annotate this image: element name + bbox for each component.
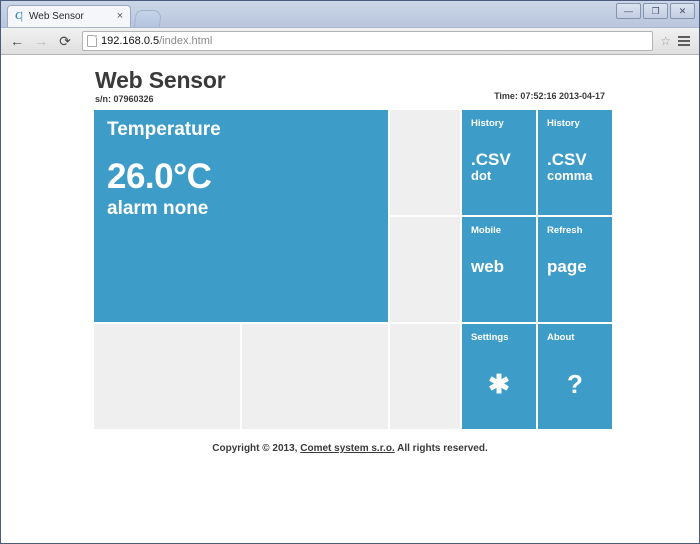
tab-title: Web Sensor	[29, 11, 110, 22]
serial-number: s/n: 07960326	[95, 95, 226, 104]
device-time: Time: 07:52:16 2013-04-17	[494, 91, 605, 104]
url-host: 192.168.0.5	[101, 35, 159, 47]
history-csv-comma-button[interactable]: History .CSV comma	[538, 110, 612, 215]
tile-caption: History	[547, 119, 603, 129]
tile-primary-label: web	[471, 258, 527, 276]
window-controls: — ❐ ✕	[616, 3, 695, 19]
comet-system-link[interactable]: Comet system s.r.o.	[300, 443, 394, 454]
temperature-value: 26.0°C	[107, 159, 375, 196]
asterisk-icon: ✱	[471, 371, 527, 397]
copyright-prefix: Copyright © 2013,	[212, 443, 300, 454]
empty-tile-r3c2	[242, 324, 388, 429]
tile-secondary-label: comma	[547, 169, 603, 183]
empty-tile-r1c3	[390, 110, 460, 215]
tile-secondary-label: dot	[471, 169, 527, 183]
url-text: 192.168.0.5/index.html	[101, 35, 212, 47]
temperature-panel: Temperature 26.0°C alarm none	[94, 110, 388, 322]
tile-primary-label: .CSV	[547, 151, 603, 169]
brand-block: Web Sensor s/n: 07960326	[95, 69, 226, 104]
tile-caption: Mobile	[471, 226, 527, 236]
back-icon[interactable]: ←	[7, 31, 27, 51]
browser-window: C| Web Sensor × — ❐ ✕ ← → ⟳ 192.168.0.5/…	[0, 0, 700, 544]
browser-tab-web-sensor[interactable]: C| Web Sensor ×	[7, 5, 131, 27]
browser-toolbar: ← → ⟳ 192.168.0.5/index.html ☆	[1, 27, 699, 55]
settings-button[interactable]: Settings ✱	[462, 324, 536, 429]
tab-strip: C| Web Sensor × — ❐ ✕	[1, 1, 699, 27]
empty-tile-r3c1	[94, 324, 240, 429]
tile-grid: Temperature 26.0°C alarm none History .C…	[94, 110, 606, 429]
bookmark-star-icon[interactable]: ☆	[660, 35, 671, 47]
page-document-icon	[87, 35, 97, 47]
tile-caption: Settings	[471, 333, 527, 343]
close-tab-icon[interactable]: ×	[114, 11, 126, 22]
mobile-web-button[interactable]: Mobile web	[462, 217, 536, 322]
comet-logo-icon: C|	[12, 10, 25, 23]
page-viewport: Web Sensor s/n: 07960326 Time: 07:52:16 …	[1, 55, 699, 543]
page-content: Web Sensor s/n: 07960326 Time: 07:52:16 …	[94, 69, 606, 454]
new-tab-button[interactable]	[134, 10, 162, 27]
minimize-button[interactable]: —	[616, 3, 641, 19]
footer-copyright: Copyright © 2013, Comet system s.r.o. Al…	[94, 429, 606, 454]
page-title: Web Sensor	[95, 69, 226, 92]
page-header: Web Sensor s/n: 07960326 Time: 07:52:16 …	[94, 69, 606, 110]
temperature-alarm-status: alarm none	[107, 198, 375, 221]
forward-icon[interactable]: →	[31, 31, 51, 51]
question-mark-icon: ?	[547, 371, 603, 397]
tile-caption: Refresh	[547, 226, 603, 236]
maximize-button[interactable]: ❐	[643, 3, 668, 19]
about-button[interactable]: About ?	[538, 324, 612, 429]
hamburger-menu-icon[interactable]	[675, 31, 693, 51]
tile-primary-label: page	[547, 258, 603, 276]
web-sensor-page: Web Sensor s/n: 07960326 Time: 07:52:16 …	[1, 55, 699, 454]
history-csv-dot-button[interactable]: History .CSV dot	[462, 110, 536, 215]
url-path: /index.html	[159, 35, 212, 47]
tile-caption: History	[471, 119, 527, 129]
copyright-suffix: All rights reserved.	[395, 443, 488, 454]
tile-caption: About	[547, 333, 603, 343]
temperature-label: Temperature	[107, 120, 375, 141]
tile-primary-label: .CSV	[471, 151, 527, 169]
refresh-page-button[interactable]: Refresh page	[538, 217, 612, 322]
empty-tile-r3c3	[390, 324, 460, 429]
empty-tile-r2c3	[390, 217, 460, 322]
close-window-button[interactable]: ✕	[670, 3, 695, 19]
address-bar[interactable]: 192.168.0.5/index.html	[82, 31, 653, 51]
reload-icon[interactable]: ⟳	[55, 31, 75, 51]
